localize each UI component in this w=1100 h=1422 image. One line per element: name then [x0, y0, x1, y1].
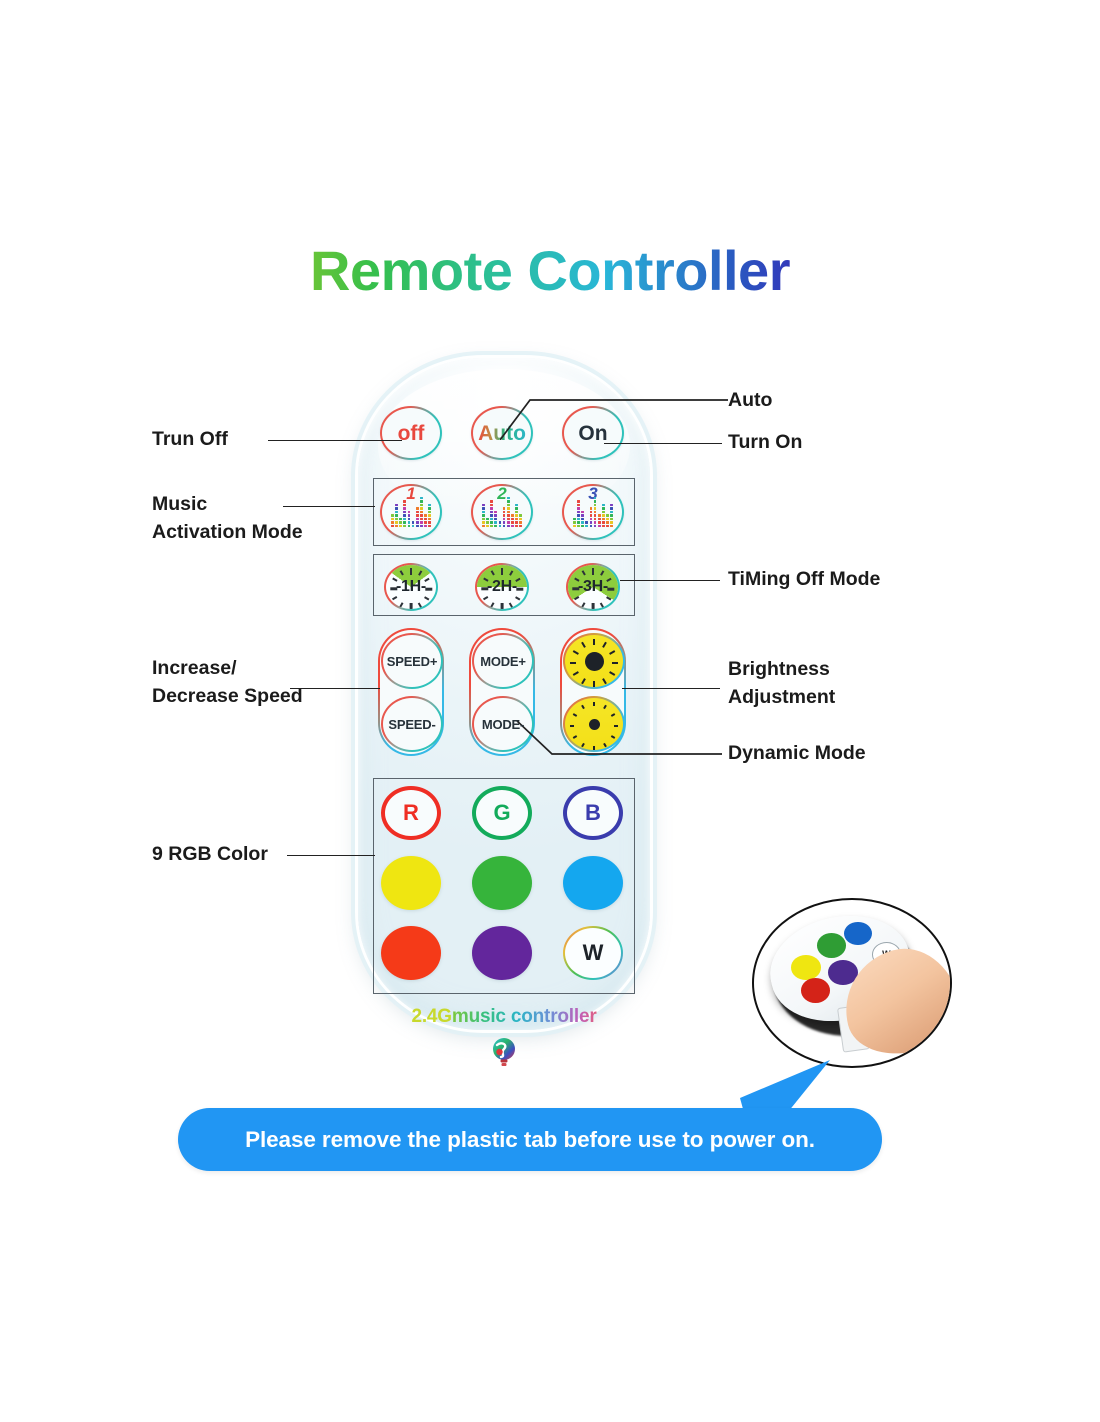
eq-segment — [585, 521, 588, 523]
music-1-number: 1 — [406, 485, 415, 502]
anno-turn-on: Turn On — [728, 430, 802, 456]
color-swatch-cyan — [563, 856, 623, 910]
anno-speed-line2: Decrease Speed — [152, 682, 303, 710]
color-b-label: B — [585, 800, 601, 826]
anno-music-line1: Music — [152, 490, 303, 518]
eq-segment — [594, 521, 597, 523]
eq-bar — [403, 500, 406, 527]
clock-tick — [483, 596, 488, 600]
eq-segment — [594, 497, 597, 499]
eq-segment — [403, 507, 406, 509]
eq-segment — [507, 518, 510, 520]
eq-segment — [577, 504, 580, 506]
eq-segment — [416, 507, 419, 509]
eq-segment — [515, 511, 518, 513]
eq-segment — [610, 511, 613, 513]
eq-segment — [610, 525, 613, 527]
eq-segment — [581, 511, 584, 513]
eq-segment — [416, 514, 419, 516]
clock-icon: -2H- — [475, 563, 529, 611]
eq-segment — [515, 525, 518, 527]
sun-ray — [593, 681, 595, 687]
eq-segment — [391, 525, 394, 527]
speed-down-label: SPEED- — [388, 717, 435, 732]
eq-segment — [507, 525, 510, 527]
eq-segment — [494, 521, 497, 523]
photo-dot-blue — [844, 922, 871, 945]
eq-segment — [577, 525, 580, 527]
button-speed-down[interactable]: SPEED- — [381, 696, 443, 752]
eq-bar — [602, 504, 605, 527]
eq-segment — [486, 525, 489, 527]
eq-segment — [515, 514, 518, 516]
color-swatch-red — [381, 926, 441, 980]
eq-bars-2 — [482, 505, 522, 527]
eq-segment — [577, 500, 580, 502]
timer-3h-label: -3H- — [578, 578, 608, 596]
eq-segment — [598, 514, 601, 516]
eq-segment — [424, 521, 427, 523]
eq-segment — [602, 518, 605, 520]
hand-pulling-tab-photo: W 2.4G music controller — [752, 898, 952, 1068]
button-music-1[interactable]: 1 — [380, 484, 442, 540]
eq-segment — [602, 521, 605, 523]
eq-bar — [594, 497, 597, 527]
eq-bar — [420, 497, 423, 527]
sun-ray — [570, 662, 576, 664]
eq-segment — [577, 507, 580, 509]
eq-segment — [416, 518, 419, 520]
eq-segment — [606, 518, 609, 520]
eq-segment — [519, 525, 522, 527]
leader-turn-off — [268, 440, 402, 441]
sun-ray — [609, 650, 615, 655]
button-timer-2h[interactable]: -2H- — [471, 560, 533, 614]
leader-dynamic — [516, 720, 722, 762]
eq-segment — [399, 525, 402, 527]
eq-segment — [602, 507, 605, 509]
eq-segment — [594, 500, 597, 502]
eq-segment — [515, 507, 518, 509]
eq-segment — [494, 518, 497, 520]
color-swatch-yellow — [381, 856, 441, 910]
eq-segment — [486, 521, 489, 523]
eq-bar — [606, 514, 609, 527]
color-g-label: G — [493, 800, 510, 826]
brand-suffix: music controller — [452, 1006, 597, 1027]
eq-bar — [490, 500, 493, 527]
eq-segment — [581, 514, 584, 516]
anno-brightness-line1: Brightness — [728, 655, 835, 683]
anno-turn-off-line1: Trun Off — [152, 427, 228, 453]
eq-segment — [511, 514, 514, 516]
eq-segment — [482, 521, 485, 523]
sun-ray — [603, 705, 607, 709]
sun-ray — [573, 671, 579, 676]
eq-segment — [428, 514, 431, 516]
clock-tick — [516, 588, 523, 591]
anno-dynamic: Dynamic Mode — [728, 741, 866, 767]
speed-up-label: SPEED+ — [387, 654, 437, 669]
eq-segment — [573, 518, 576, 520]
eq-segment — [577, 511, 580, 513]
anno-brightness-line2: Adjustment — [728, 683, 835, 711]
leader-music — [283, 506, 375, 507]
clock-tick — [592, 603, 595, 610]
equalizer-icon: 3 — [573, 497, 613, 527]
eq-segment — [482, 511, 485, 513]
anno-turn-on-line1: Turn On — [728, 430, 802, 456]
eq-segment — [503, 507, 506, 509]
button-color-g[interactable]: G — [472, 786, 532, 840]
clock-tick — [606, 596, 611, 600]
eq-bar — [482, 504, 485, 527]
eq-segment — [598, 521, 601, 523]
eq-segment — [494, 514, 497, 516]
eq-bar — [424, 514, 427, 527]
anno-rgb-line1: 9 RGB Color — [152, 842, 268, 868]
button-timer-1h[interactable]: -1H- — [380, 560, 442, 614]
eq-segment — [594, 507, 597, 509]
leader-auto — [500, 392, 728, 440]
clock-tick — [607, 588, 614, 591]
color-w-label: W — [583, 940, 604, 966]
eq-segment — [420, 507, 423, 509]
eq-segment — [482, 518, 485, 520]
eq-segment — [416, 511, 419, 513]
eq-segment — [412, 525, 415, 527]
eq-segment — [511, 518, 514, 520]
eq-bar — [511, 514, 514, 527]
page-title: Remote Controller — [0, 238, 1100, 303]
eq-bar — [395, 504, 398, 527]
eq-segment — [511, 521, 514, 523]
eq-segment — [590, 518, 593, 520]
eq-bar — [391, 514, 394, 527]
eq-segment — [610, 521, 613, 523]
eq-segment — [503, 514, 506, 516]
anno-music-line2: Activation Mode — [152, 518, 303, 546]
eq-segment — [403, 521, 406, 523]
clock-tick — [491, 570, 495, 575]
eq-segment — [424, 525, 427, 527]
eq-segment — [408, 514, 411, 516]
clock-tick — [491, 602, 495, 607]
eq-segment — [403, 511, 406, 513]
eq-segment — [395, 521, 398, 523]
anno-music: Music Activation Mode — [152, 490, 303, 547]
eq-segment — [573, 521, 576, 523]
eq-segment — [490, 504, 493, 506]
eq-segment — [391, 514, 394, 516]
bulb-s-logo-icon — [489, 1036, 519, 1068]
sun-ray — [609, 671, 615, 676]
leader-rgb — [287, 855, 375, 856]
eq-segment — [395, 507, 398, 509]
eq-segment — [519, 518, 522, 520]
eq-bar — [519, 514, 522, 527]
clock-tick — [410, 568, 413, 575]
anno-turn-off: Trun Off — [152, 427, 228, 453]
brand-prefix: 2.4G — [411, 1006, 451, 1027]
button-off[interactable]: off — [380, 406, 442, 460]
clock-tick — [592, 568, 595, 575]
remote-brand-text: 2.4Gmusic controller — [358, 1006, 650, 1028]
eq-segment — [590, 507, 593, 509]
button-mode-up[interactable]: MODE+ — [472, 633, 534, 689]
eq-segment — [503, 521, 506, 523]
eq-segment — [515, 518, 518, 520]
clock-tick — [400, 602, 404, 607]
eq-segment — [408, 525, 411, 527]
eq-segment — [416, 521, 419, 523]
eq-bar — [610, 504, 613, 527]
eq-segment — [573, 525, 576, 527]
button-timer-3h[interactable]: -3H- — [562, 560, 624, 614]
eq-bar — [573, 518, 576, 527]
button-color-b[interactable]: B — [563, 786, 623, 840]
eq-segment — [399, 521, 402, 523]
anno-brightness: Brightness Adjustment — [728, 655, 835, 712]
eq-segment — [482, 514, 485, 516]
eq-segment — [420, 514, 423, 516]
eq-bar — [416, 507, 419, 527]
timer-2h-label: -2H- — [487, 578, 517, 596]
clock-tick — [509, 602, 513, 607]
eq-bar — [507, 497, 510, 527]
photo-dot-green — [817, 933, 846, 958]
color-r-label: R — [403, 800, 419, 826]
eq-bar — [486, 518, 489, 527]
timer-1h-label: -1H- — [396, 578, 426, 596]
eq-segment — [507, 497, 510, 499]
eq-segment — [490, 500, 493, 502]
sun-ray — [602, 642, 607, 648]
sun-large-icon — [563, 633, 625, 689]
button-color-purple[interactable] — [472, 926, 532, 980]
eq-segment — [606, 521, 609, 523]
leader-speed — [290, 688, 380, 689]
clock-tick — [424, 596, 429, 600]
eq-segment — [507, 511, 510, 513]
eq-segment — [594, 511, 597, 513]
eq-segment — [395, 514, 398, 516]
eq-segment — [391, 521, 394, 523]
eq-segment — [499, 525, 502, 527]
leader-timing — [620, 580, 720, 581]
eq-segment — [416, 525, 419, 527]
eq-segment — [420, 525, 423, 527]
eq-bar — [577, 500, 580, 527]
eq-segment — [428, 511, 431, 513]
sun-ray — [602, 678, 607, 684]
sun-ray — [581, 678, 586, 684]
eq-bars-3 — [573, 505, 613, 527]
eq-bars-1 — [391, 505, 431, 527]
eq-segment — [610, 518, 613, 520]
button-music-2[interactable]: 2 — [471, 484, 533, 540]
eq-segment — [594, 504, 597, 506]
leader-brightness — [622, 688, 720, 689]
callout-banner: Please remove the plastic tab before use… — [178, 1108, 882, 1171]
eq-segment — [424, 514, 427, 516]
eq-segment — [482, 504, 485, 506]
color-swatch-purple — [472, 926, 532, 980]
eq-segment — [428, 507, 431, 509]
sun-ray — [612, 662, 618, 664]
button-color-red[interactable] — [381, 926, 441, 980]
eq-segment — [395, 518, 398, 520]
mode-up-label: MODE+ — [480, 654, 526, 669]
eq-segment — [577, 514, 580, 516]
eq-segment — [577, 518, 580, 520]
button-color-cyan[interactable] — [563, 856, 623, 910]
anno-auto: Auto — [728, 388, 772, 414]
eq-segment — [490, 511, 493, 513]
sun-ray — [581, 642, 586, 648]
eq-bar — [598, 514, 601, 527]
anno-speed-line1: Increase/ — [152, 654, 303, 682]
eq-segment — [503, 511, 506, 513]
anno-rgb: 9 RGB Color — [152, 842, 268, 868]
eq-segment — [519, 514, 522, 516]
eq-segment — [494, 511, 497, 513]
sun-ray — [573, 650, 579, 655]
clock-tick — [574, 596, 579, 600]
color-swatch-green — [472, 856, 532, 910]
anno-timing: TiMing Off Mode — [728, 567, 880, 593]
sun-ray — [593, 639, 595, 645]
eq-segment — [420, 511, 423, 513]
eq-segment — [585, 525, 588, 527]
eq-segment — [403, 504, 406, 506]
equalizer-icon: 2 — [482, 497, 522, 527]
button-music-3[interactable]: 3 — [562, 484, 624, 540]
callout-text: Please remove the plastic tab before use… — [245, 1127, 815, 1153]
sun-ray — [573, 713, 577, 717]
eq-segment — [590, 514, 593, 516]
eq-segment — [403, 500, 406, 502]
eq-segment — [503, 525, 506, 527]
eq-segment — [490, 525, 493, 527]
sun-rays — [565, 635, 623, 687]
eq-segment — [412, 521, 415, 523]
eq-segment — [507, 500, 510, 502]
eq-segment — [420, 504, 423, 506]
eq-segment — [420, 518, 423, 520]
eq-segment — [581, 521, 584, 523]
eq-segment — [482, 525, 485, 527]
clock-tick — [392, 596, 397, 600]
sun-ray — [581, 705, 585, 709]
eq-segment — [590, 511, 593, 513]
eq-segment — [606, 514, 609, 516]
eq-segment — [598, 518, 601, 520]
eq-segment — [598, 525, 601, 527]
eq-segment — [610, 514, 613, 516]
eq-segment — [403, 525, 406, 527]
eq-segment — [403, 518, 406, 520]
eq-bar — [499, 521, 502, 527]
sun-ray — [593, 702, 595, 706]
eq-segment — [519, 521, 522, 523]
eq-segment — [428, 525, 431, 527]
eq-segment — [499, 521, 502, 523]
button-brightness-up[interactable] — [563, 633, 625, 689]
clock-tick — [600, 570, 604, 575]
page-root: Remote Controller off Auto On 1 2 — [0, 0, 1100, 1422]
eq-segment — [507, 514, 510, 516]
eq-segment — [399, 518, 402, 520]
eq-bar — [399, 518, 402, 527]
button-color-yellow[interactable] — [381, 856, 441, 910]
eq-segment — [602, 504, 605, 506]
speed-pill-group: SPEED+ SPEED- — [378, 628, 444, 756]
eq-segment — [490, 518, 493, 520]
music-2-number: 2 — [497, 485, 506, 502]
eq-bar — [590, 507, 593, 527]
eq-segment — [507, 507, 510, 509]
clock-tick — [582, 570, 586, 575]
clock-tick — [501, 568, 504, 575]
clock-icon: -3H- — [566, 563, 620, 611]
anno-timing-line1: TiMing Off Mode — [728, 567, 880, 593]
button-speed-up[interactable]: SPEED+ — [381, 633, 443, 689]
eq-segment — [428, 521, 431, 523]
clock-tick — [400, 570, 404, 575]
photo-dot-red — [801, 978, 830, 1003]
photo-dot-yellow — [791, 955, 820, 980]
button-color-white[interactable]: W — [563, 926, 623, 980]
eq-segment — [395, 525, 398, 527]
anno-dynamic-line1: Dynamic Mode — [728, 741, 866, 767]
eq-bar — [428, 504, 431, 527]
clock-tick — [418, 602, 422, 607]
eq-segment — [610, 507, 613, 509]
eq-segment — [420, 500, 423, 502]
clock-tick — [425, 588, 432, 591]
eq-segment — [594, 514, 597, 516]
eq-segment — [515, 504, 518, 506]
eq-segment — [420, 497, 423, 499]
eq-segment — [594, 518, 597, 520]
eq-segment — [577, 521, 580, 523]
eq-segment — [511, 525, 514, 527]
eq-bar — [581, 511, 584, 527]
eq-segment — [610, 504, 613, 506]
eq-segment — [581, 518, 584, 520]
eq-segment — [395, 504, 398, 506]
eq-segment — [420, 521, 423, 523]
eq-segment — [507, 521, 510, 523]
clock-tick — [509, 570, 513, 575]
eq-segment — [395, 511, 398, 513]
eq-segment — [494, 525, 497, 527]
clock-tick — [418, 570, 422, 575]
clock-tick — [515, 596, 520, 600]
button-color-green[interactable] — [472, 856, 532, 910]
eq-segment — [486, 518, 489, 520]
eq-bar — [503, 507, 506, 527]
eq-segment — [590, 525, 593, 527]
button-color-r[interactable]: R — [381, 786, 441, 840]
equalizer-icon: 1 — [391, 497, 431, 527]
eq-segment — [391, 518, 394, 520]
clock-tick — [501, 603, 504, 610]
clock-tick — [600, 602, 604, 607]
eq-bar — [412, 521, 415, 527]
eq-segment — [482, 507, 485, 509]
